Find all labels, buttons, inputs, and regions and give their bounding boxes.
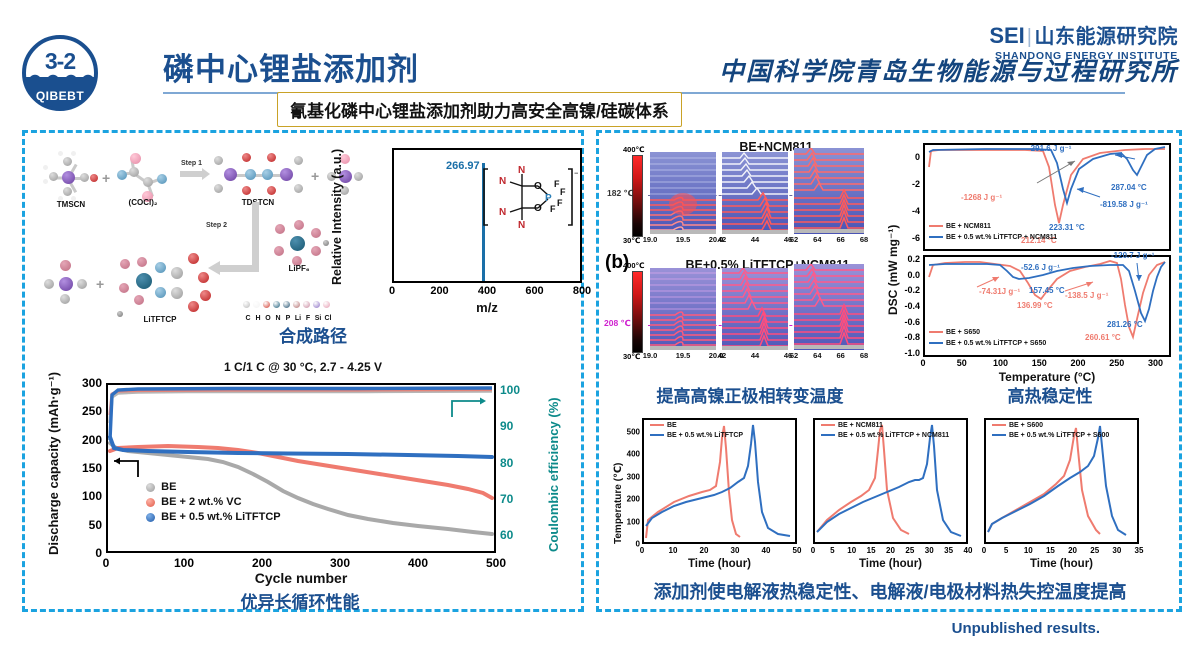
xrd-tick-label: 19.5 — [676, 235, 691, 244]
atom-li — [323, 240, 329, 246]
tick-label: 200 — [1070, 358, 1085, 368]
xrd-tick-label: 19.0 — [643, 235, 658, 244]
xrd-colorbar-top-b: 400℃ — [623, 261, 645, 270]
sei-cn-line: SEI|山东能源研究院 — [989, 20, 1178, 49]
xrd-transition-label-b: 208 ℃ — [604, 318, 631, 329]
caption-synthesis-route: 合成路径 — [243, 322, 383, 347]
xrd-tick-label: 44 — [751, 235, 759, 244]
sei-cn-name: 山东能源研究院 — [1035, 26, 1179, 48]
atom-key-label-c: C — [243, 315, 253, 322]
tick-label: 200 — [430, 285, 448, 297]
atom-key-label-h: H — [253, 315, 263, 322]
dsc-anno-28126: 281.26 °C — [1107, 320, 1143, 329]
dsc-plot-ncm811: -291.6 J g⁻¹ -1268 J g⁻¹ -819.58 J g⁻¹ 2… — [923, 143, 1171, 251]
molecule-label-lipf6: LiPF₆ — [273, 264, 325, 273]
tick-label: 10 — [669, 546, 678, 555]
xrd-xticks-b: 19.019.520.042444662646668 — [648, 351, 868, 363]
legend-dot-be — [146, 483, 155, 492]
tick-label: 5 — [1004, 546, 1008, 555]
tick-label: 0 — [811, 546, 815, 555]
dsc-anno-81958: -819.58 J g⁻¹ — [1100, 200, 1148, 209]
xrd-xticks-a: 19.019.520.042444662646668 — [648, 235, 868, 247]
cycling-y2ticks: 60708090100 — [500, 383, 542, 553]
tick-label: 250 — [82, 404, 102, 418]
atom-c — [63, 157, 72, 166]
xrd-colorbar-b — [632, 271, 643, 353]
unpublished-note: Unpublished results. — [952, 620, 1100, 637]
atom-key-dot-p — [283, 301, 290, 308]
tick-label: 20 — [700, 546, 709, 555]
tick-label: 10 — [847, 546, 856, 555]
tick-label: 25 — [1090, 546, 1099, 555]
tick-label: 200 — [252, 556, 272, 570]
atom-key-dot-h — [253, 301, 260, 308]
thermal-runaway-plot-ncm811: BE + NCM811 BE + 0.5 wt.% LiTFTCP + NCM8… — [813, 418, 968, 544]
dsc-plot-s650: -52.6 J g⁻¹ -120.7 J g⁻¹ -74.31J g⁻¹ 157… — [923, 255, 1171, 357]
cycling-title: 1 C/1 C @ 30 °C, 2.7 - 4.25 V — [168, 360, 438, 374]
xrd-tick-label: 19.5 — [676, 351, 691, 360]
tick-label: 400 — [408, 556, 428, 570]
xrd-heatmap-a2 — [722, 152, 788, 234]
dsc-yticks-ncm811: 0-2-4-6 — [898, 143, 922, 251]
cycling-yticks: 050100150200250300 — [62, 383, 104, 553]
plus-sign: + — [96, 276, 104, 292]
tick-label: 0 — [389, 285, 395, 297]
plus-sign: + — [311, 168, 319, 184]
atom-key-dot-o — [263, 301, 270, 308]
tick-label: -0.4 — [904, 301, 920, 311]
sei-abbrev: SEI — [989, 23, 1024, 48]
atom-key-label-o: O — [263, 315, 273, 322]
tick-label: -6 — [912, 233, 920, 243]
legend-item-be: BE — [146, 480, 281, 495]
cycling-performance-plot: BE BE + 2 wt.% VC BE + 0.5 wt.% LiTFTCP — [106, 383, 496, 553]
dsc-yticks-s650: 0.20.0-0.2-0.4-0.6-0.8-1.0 — [893, 255, 922, 357]
sei-divider-glyph: | — [1025, 26, 1035, 48]
atom-key-dot-c — [243, 301, 250, 308]
xrd-tick-label: 66 — [836, 235, 844, 244]
logo-number: 3-2 — [22, 48, 98, 75]
tick-label: 100 — [82, 489, 102, 503]
tr2-legend-be: BE + NCM811 — [821, 422, 883, 429]
step2-arrow-horizontal — [220, 265, 259, 272]
dsc-anno-1268: -1268 J g⁻¹ — [961, 193, 1002, 202]
tick-label: 200 — [82, 433, 102, 447]
atom-key-labels: CHONPLiFSiCl — [243, 315, 333, 322]
atom-key-dots — [243, 296, 333, 314]
institute-name-cn: 中国科学院青岛生物能源与过程研究所 — [719, 52, 1178, 88]
tick-label: 15 — [1046, 546, 1055, 555]
tick-label: 80 — [500, 456, 513, 470]
xrd-tick-label: 62 — [790, 351, 798, 360]
atom-c — [63, 187, 72, 196]
dsc-anno-2916: -291.6 J g⁻¹ — [1028, 144, 1071, 153]
legend-dot-vc — [146, 498, 155, 507]
atom-f — [275, 224, 285, 234]
tick-label: 100 — [627, 517, 640, 526]
tick-label: 0.0 — [907, 270, 920, 280]
tr1-yticks: 0100200300400500 — [618, 418, 642, 544]
thermal-runaway-plot-s600: BE + S600 BE + 0.5 wt.% LiTFTCP + S600 — [984, 418, 1139, 544]
tick-label: 35 — [944, 546, 953, 555]
tick-label: -4 — [912, 206, 920, 216]
atom-key-dot-cl — [323, 301, 330, 308]
step2-label: Step 2 — [206, 222, 227, 229]
tr1-xlabel: Time (hour) — [642, 558, 797, 570]
xrd-colorbar-bottom-a: 30℃ — [623, 236, 640, 245]
tick-label: 100 — [500, 383, 520, 397]
tick-label: 5 — [830, 546, 834, 555]
ms-peak-label: 266.97 — [446, 160, 480, 172]
atom-key-label-cl: Cl — [323, 315, 333, 322]
tick-label: 60 — [500, 528, 513, 542]
xrd-tick-label: 64 — [813, 235, 821, 244]
caption-thermal-runaway: 添加剂使电解液热稳定性、电解液/电极材料热失控温度提高 — [620, 578, 1160, 604]
legend-dot-litftcp — [146, 513, 155, 522]
tr1-legend-be: BE — [650, 422, 677, 429]
dsc-legend-ncm-be: BE + NCM811 — [929, 223, 991, 230]
tick-label: -2 — [912, 179, 920, 189]
tick-label: -1.0 — [904, 348, 920, 358]
xrd-colorbar-bottom-b: 30℃ — [623, 352, 640, 361]
molecule-tdstcn: TDSTCN — [212, 146, 304, 206]
tr3-legend-be: BE + S600 — [992, 422, 1043, 429]
legend-item-vc: BE + 2 wt.% VC — [146, 495, 281, 510]
tick-label: 100 — [993, 358, 1008, 368]
step1-arrow — [180, 171, 204, 177]
mass-spectrum-plot: 266.97 − N N N N O O P F F F F — [392, 148, 582, 283]
atom-key-dot-li — [293, 301, 300, 308]
dsc-anno-13699: 136.99 °C — [1017, 301, 1053, 310]
atom-key-label-si: Si — [313, 315, 323, 322]
tick-label: 50 — [957, 358, 967, 368]
molecule-tms-product — [42, 255, 90, 310]
tick-label: 40 — [762, 546, 771, 555]
svg-text:N: N — [518, 165, 525, 176]
tr1-legend-litftcp: BE + 0.5 wt.% LiTFTCP — [650, 432, 743, 439]
svg-text:N: N — [499, 207, 506, 218]
xrd-tick-label: 64 — [813, 351, 821, 360]
molecule-lipf6: LiPF₆ — [270, 218, 330, 273]
dsc-anno-28704: 287.04 °C — [1111, 183, 1147, 192]
cycling-legend: BE BE + 2 wt.% VC BE + 0.5 wt.% LiTFTCP — [146, 480, 281, 525]
tick-label: 30 — [1112, 546, 1121, 555]
tick-label: 35 — [1135, 546, 1144, 555]
thermal-runaway-plot-electrolyte: BE BE + 0.5 wt.% LiTFTCP — [642, 418, 797, 544]
molecule-cocl2: (COCl)₂ — [116, 148, 171, 206]
molecule-label-litftcp: LiTFTCP — [120, 315, 200, 324]
tick-label: 0 — [920, 358, 925, 368]
xrd-tick-label: 42 — [718, 235, 726, 244]
tick-label: 50 — [793, 546, 802, 555]
xrd-heatmap-b2 — [722, 268, 788, 350]
atom-color-key: CHONPLiFSiCl — [243, 296, 333, 322]
dsc-legend-ncm-litftcp: BE + 0.5 wt.% LiTFTCP + NCM811 — [929, 234, 1057, 241]
xrd-heatmap-b3 — [794, 264, 864, 350]
atom-c — [49, 172, 58, 181]
tick-label: 50 — [89, 518, 102, 532]
tick-label: -0.2 — [904, 285, 920, 295]
svg-text:−: − — [574, 168, 578, 178]
tick-label: 150 — [82, 461, 102, 475]
tick-label: 40 — [964, 546, 973, 555]
atom-key-label-p: P — [283, 315, 293, 322]
svg-text:F: F — [560, 187, 566, 197]
dsc-anno-15745: 157.45 °C — [1029, 286, 1065, 295]
tick-label: 30 — [731, 546, 740, 555]
tick-label: 500 — [486, 556, 506, 570]
tick-label: 0 — [982, 546, 986, 555]
xrd-heatmap-b1 — [650, 268, 716, 350]
tick-label: 25 — [905, 546, 914, 555]
xrd-tick-label: 44 — [751, 351, 759, 360]
molecule-label-cocl2: (COCl)₂ — [112, 198, 174, 207]
ms-xlabel: m/z — [392, 300, 582, 315]
molecule-tmscn: TMSCN — [40, 150, 100, 205]
xrd-tick-label: 42 — [718, 351, 726, 360]
dsc-anno-22331: 223.31 °C — [1049, 223, 1085, 232]
molecule-litftcp: LiTFTCP — [114, 245, 219, 320]
tick-label: 20 — [1068, 546, 1077, 555]
svg-text:O: O — [534, 203, 542, 214]
cycling-curves — [108, 385, 494, 551]
dsc-anno-26061: 260.61 °C — [1085, 333, 1121, 342]
dsc-anno-1385: -138.5 J g⁻¹ — [1065, 291, 1108, 300]
xrd-tick-label: 66 — [836, 351, 844, 360]
atom-key-dot-n — [273, 301, 280, 308]
tick-label: 15 — [867, 546, 876, 555]
plus-sign: + — [102, 170, 110, 186]
xrd-tick-label: 19.0 — [643, 351, 658, 360]
atom-key-label-li: Li — [293, 315, 303, 322]
xrd-tick-label: 62 — [790, 235, 798, 244]
step2-arrow-vertical — [252, 202, 259, 272]
atom-key-label-n: N — [273, 315, 283, 322]
atom-key-label-f: F — [303, 315, 313, 322]
tick-label: -0.8 — [904, 332, 920, 342]
svg-text:N: N — [518, 220, 525, 230]
atom-p — [290, 236, 305, 251]
atom-n — [90, 174, 98, 182]
dsc-anno-1207: -120.7 J g⁻¹ — [1111, 251, 1154, 260]
svg-text:F: F — [557, 198, 563, 208]
tick-label: 300 — [1148, 358, 1163, 368]
svg-text:P: P — [545, 193, 552, 204]
tick-label: 0 — [103, 556, 110, 570]
svg-text:F: F — [550, 204, 556, 214]
xrd-colorbar-top-a: 400℃ — [623, 145, 645, 154]
tick-label: 90 — [500, 419, 513, 433]
qibebt-logo: 3-2 QIBEBT — [22, 35, 98, 111]
tick-label: 400 — [627, 450, 640, 459]
dsc-anno-7431: -74.31J g⁻¹ — [979, 287, 1020, 296]
anion-structure-inset: − N N N N O O P F F F F — [482, 164, 578, 230]
caption-cycling: 优异长循环性能 — [150, 588, 450, 613]
xrd-heatmap-a1 — [650, 152, 716, 234]
tick-label: 0 — [640, 546, 644, 555]
tr2-xlabel: Time (hour) — [813, 558, 968, 570]
tick-label: -0.6 — [904, 317, 920, 327]
tick-label: 250 — [1109, 358, 1124, 368]
legend-item-litftcp: BE + 0.5 wt.% LiTFTCP — [146, 510, 281, 525]
svg-text:N: N — [499, 176, 506, 187]
caption-dsc: 高热稳定性 — [960, 382, 1140, 407]
tick-label: 10 — [1024, 546, 1033, 555]
tick-label: 30 — [925, 546, 934, 555]
page-title: 磷中心锂盐添加剂 — [163, 44, 419, 89]
xrd-tick-label: 68 — [860, 235, 868, 244]
tick-label: 0 — [915, 152, 920, 162]
tick-label: 800 — [573, 285, 591, 297]
cycling-xlabel: Cycle number — [106, 570, 496, 586]
tick-label: 300 — [330, 556, 350, 570]
atom-key-dot-si — [313, 301, 320, 308]
tick-label: 300 — [82, 376, 102, 390]
tick-label: 200 — [627, 495, 640, 504]
step1-label: Step 1 — [181, 160, 202, 167]
tick-label: 600 — [525, 285, 543, 297]
tr3-xlabel: Time (hour) — [984, 558, 1139, 570]
tick-label: 150 — [1032, 358, 1047, 368]
atom-si — [62, 171, 75, 184]
xrd-tick-label: 68 — [860, 351, 868, 360]
molecule-label-tmscn: TMSCN — [36, 200, 106, 209]
tick-label: 300 — [627, 472, 640, 481]
tick-label: 70 — [500, 492, 513, 506]
tr2-legend-litftcp: BE + 0.5 wt.% LiTFTCP + NCM811 — [821, 432, 949, 439]
atom-c — [80, 173, 89, 182]
tick-label: 20 — [886, 546, 895, 555]
dsc-anno-526: -52.6 J g⁻¹ — [1021, 263, 1060, 272]
svg-text:O: O — [534, 181, 542, 192]
tick-label: 0 — [95, 546, 102, 560]
tr3-legend-litftcp: BE + 0.5 wt.% LiTFTCP + S600 — [992, 432, 1109, 439]
tick-label: 0.2 — [907, 254, 920, 264]
atom-cl — [130, 153, 141, 164]
xrd-heatmap-a3 — [794, 148, 864, 234]
atom-key-dot-f — [303, 301, 310, 308]
tick-label: 400 — [478, 285, 496, 297]
subtitle-banner: 氰基化磷中心锂盐添加剂助力高安全高镍/硅碳体系 — [277, 92, 682, 127]
tick-label: 100 — [174, 556, 194, 570]
tick-label: 500 — [627, 427, 640, 436]
xrd-transition-label-a: 182 ℃ — [607, 188, 634, 199]
dsc-legend-s650-be: BE + S650 — [929, 329, 980, 336]
dsc-legend-s650-litftcp: BE + 0.5 wt.% LiTFTCP + S650 — [929, 340, 1046, 347]
logo-org-text: QIBEBT — [22, 89, 98, 103]
caption-xrd: 提高高镍正极相转变温度 — [620, 382, 880, 407]
